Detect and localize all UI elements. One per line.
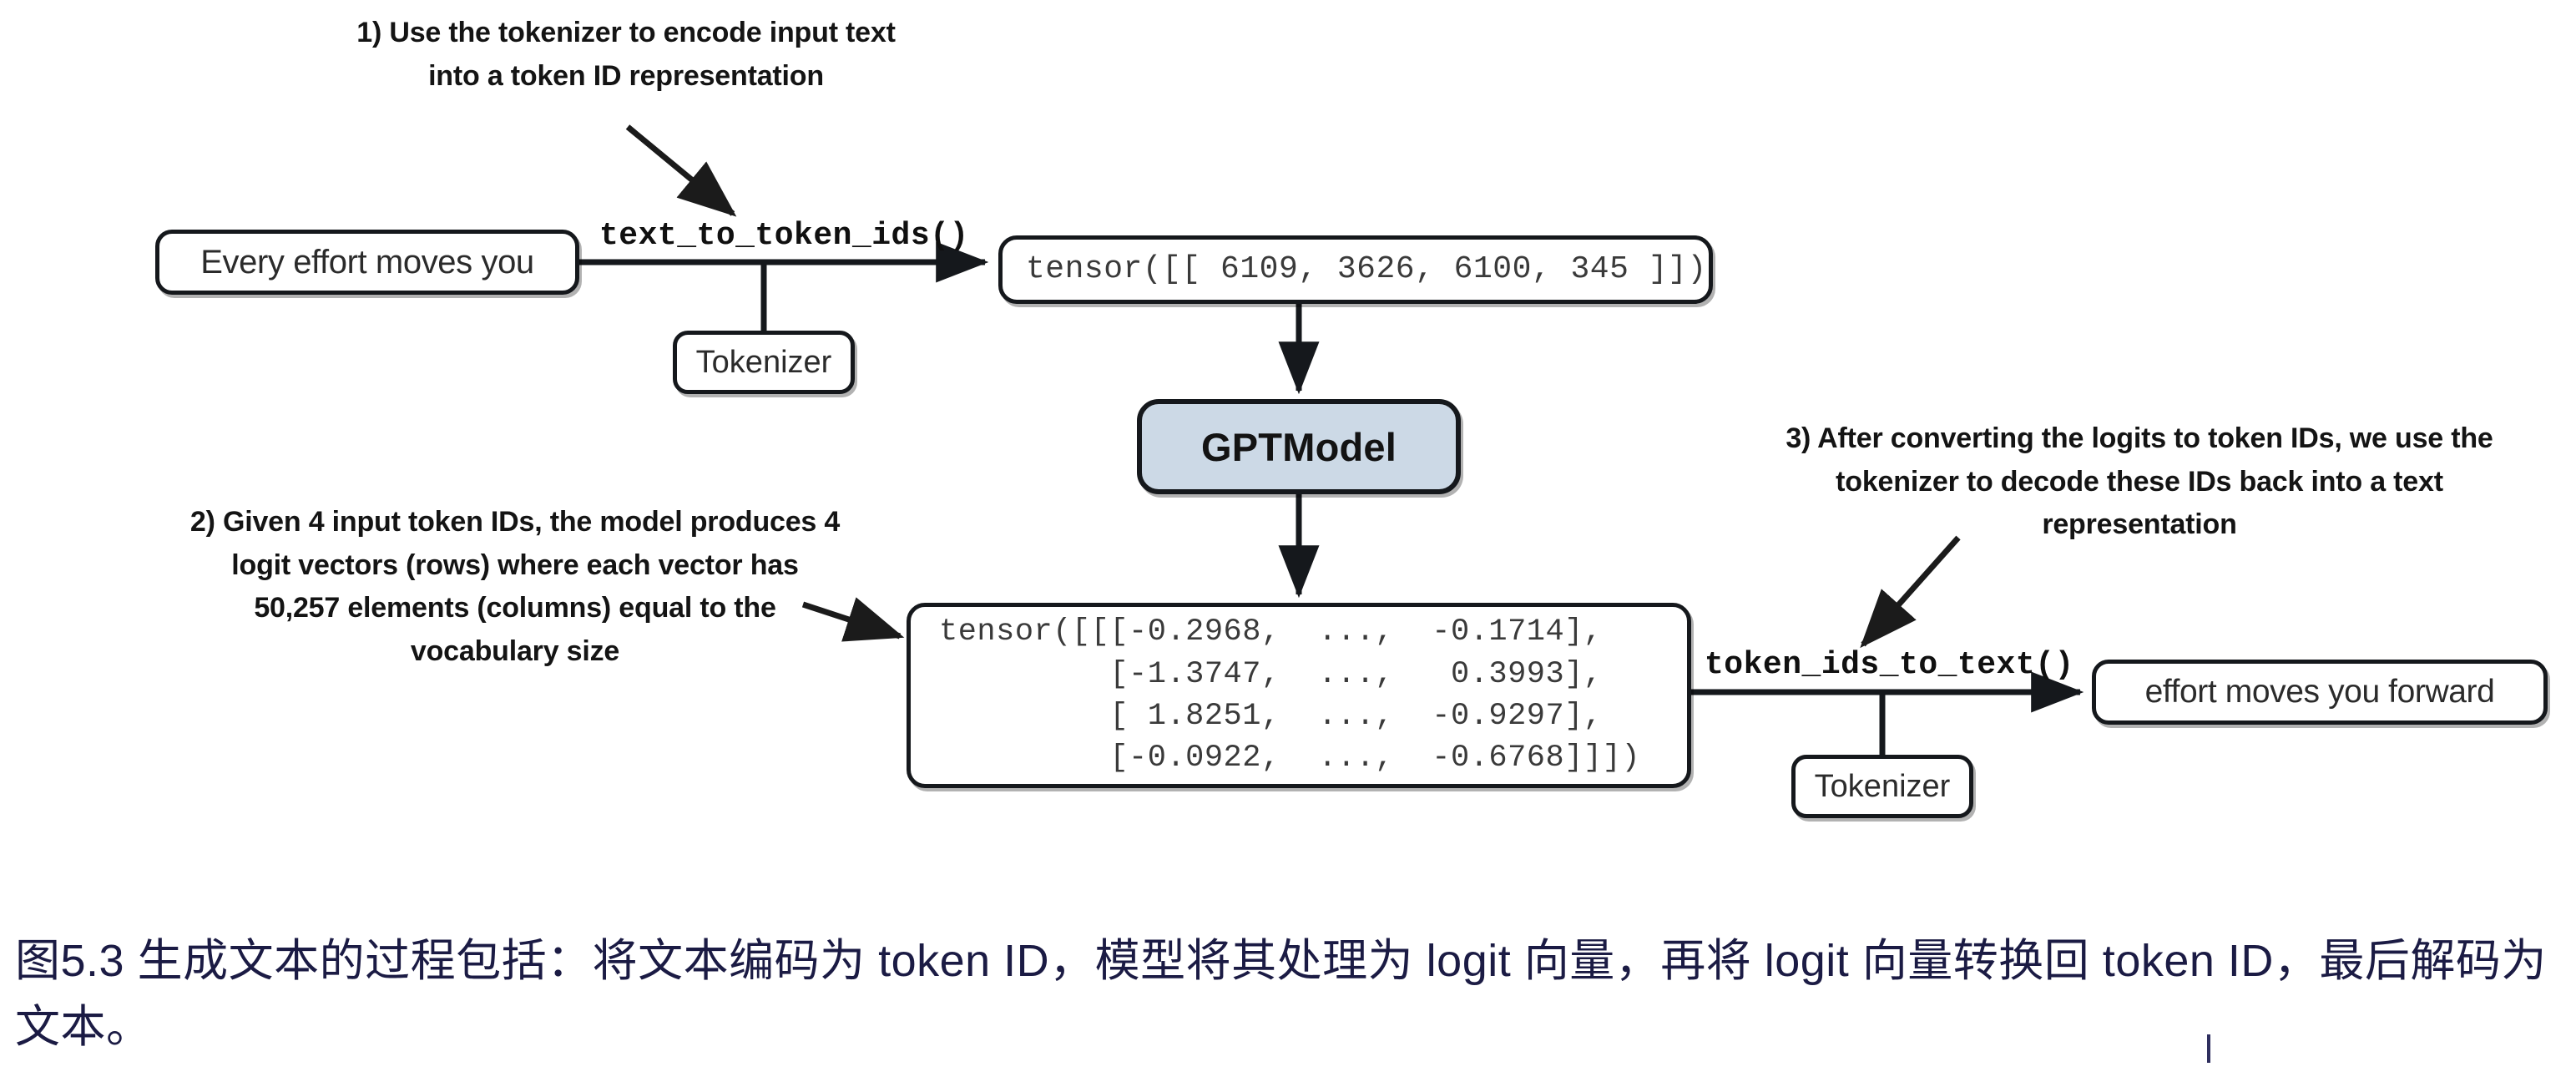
- token-ids-tensor-text: tensor([[ 6109, 3626, 6100, 345 ]]): [1003, 248, 1707, 291]
- logits-tensor-text: tensor([[[-0.2968, ..., -0.1714], [-1.37…: [911, 611, 1640, 779]
- output-text-label: effort moves you forward: [2145, 674, 2495, 710]
- leader-arrow-note-3: [1863, 538, 1958, 645]
- edge-label-text-to-token-ids: text_to_token_ids(): [599, 218, 969, 254]
- edge-text-to-token-ids: [579, 262, 985, 331]
- node-output-text-box[interactable]: effort moves you forward: [2092, 660, 2548, 725]
- annotation-note-2: 2) Given 4 input token IDs, the model pr…: [185, 501, 845, 674]
- node-input-text-box[interactable]: Every effort moves you: [155, 230, 579, 295]
- input-text-label: Every effort moves you: [200, 244, 534, 281]
- edge-token-ids-to-text: [1691, 692, 2080, 755]
- node-gpt-model-box[interactable]: GPTModel: [1137, 399, 1461, 494]
- node-tokenizer-encode-box[interactable]: Tokenizer: [673, 331, 855, 394]
- node-token-ids-tensor-box[interactable]: tensor([[ 6109, 3626, 6100, 345 ]]): [998, 235, 1713, 304]
- figure-caption: 图5.3 生成文本的过程包括：将文本编码为 token ID，模型将其处理为 l…: [15, 928, 2553, 1060]
- annotation-note-3: 3) After converting the logits to token …: [1768, 417, 2511, 547]
- text-cursor: [2207, 1034, 2210, 1063]
- node-tokenizer-decode-box[interactable]: Tokenizer: [1791, 755, 1973, 818]
- edge-label-token-ids-to-text: token_ids_to_text(): [1705, 647, 2074, 683]
- gpt-model-label: GPTModel: [1201, 424, 1397, 470]
- node-logits-tensor-box[interactable]: tensor([[[-0.2968, ..., -0.1714], [-1.37…: [907, 603, 1691, 788]
- tokenizer-decode-label: Tokenizer: [1815, 769, 1951, 805]
- annotation-note-1: 1) Use the tokenizer to encode input tex…: [334, 12, 918, 98]
- tokenizer-encode-label: Tokenizer: [696, 345, 832, 381]
- leader-arrow-note-1: [628, 127, 733, 214]
